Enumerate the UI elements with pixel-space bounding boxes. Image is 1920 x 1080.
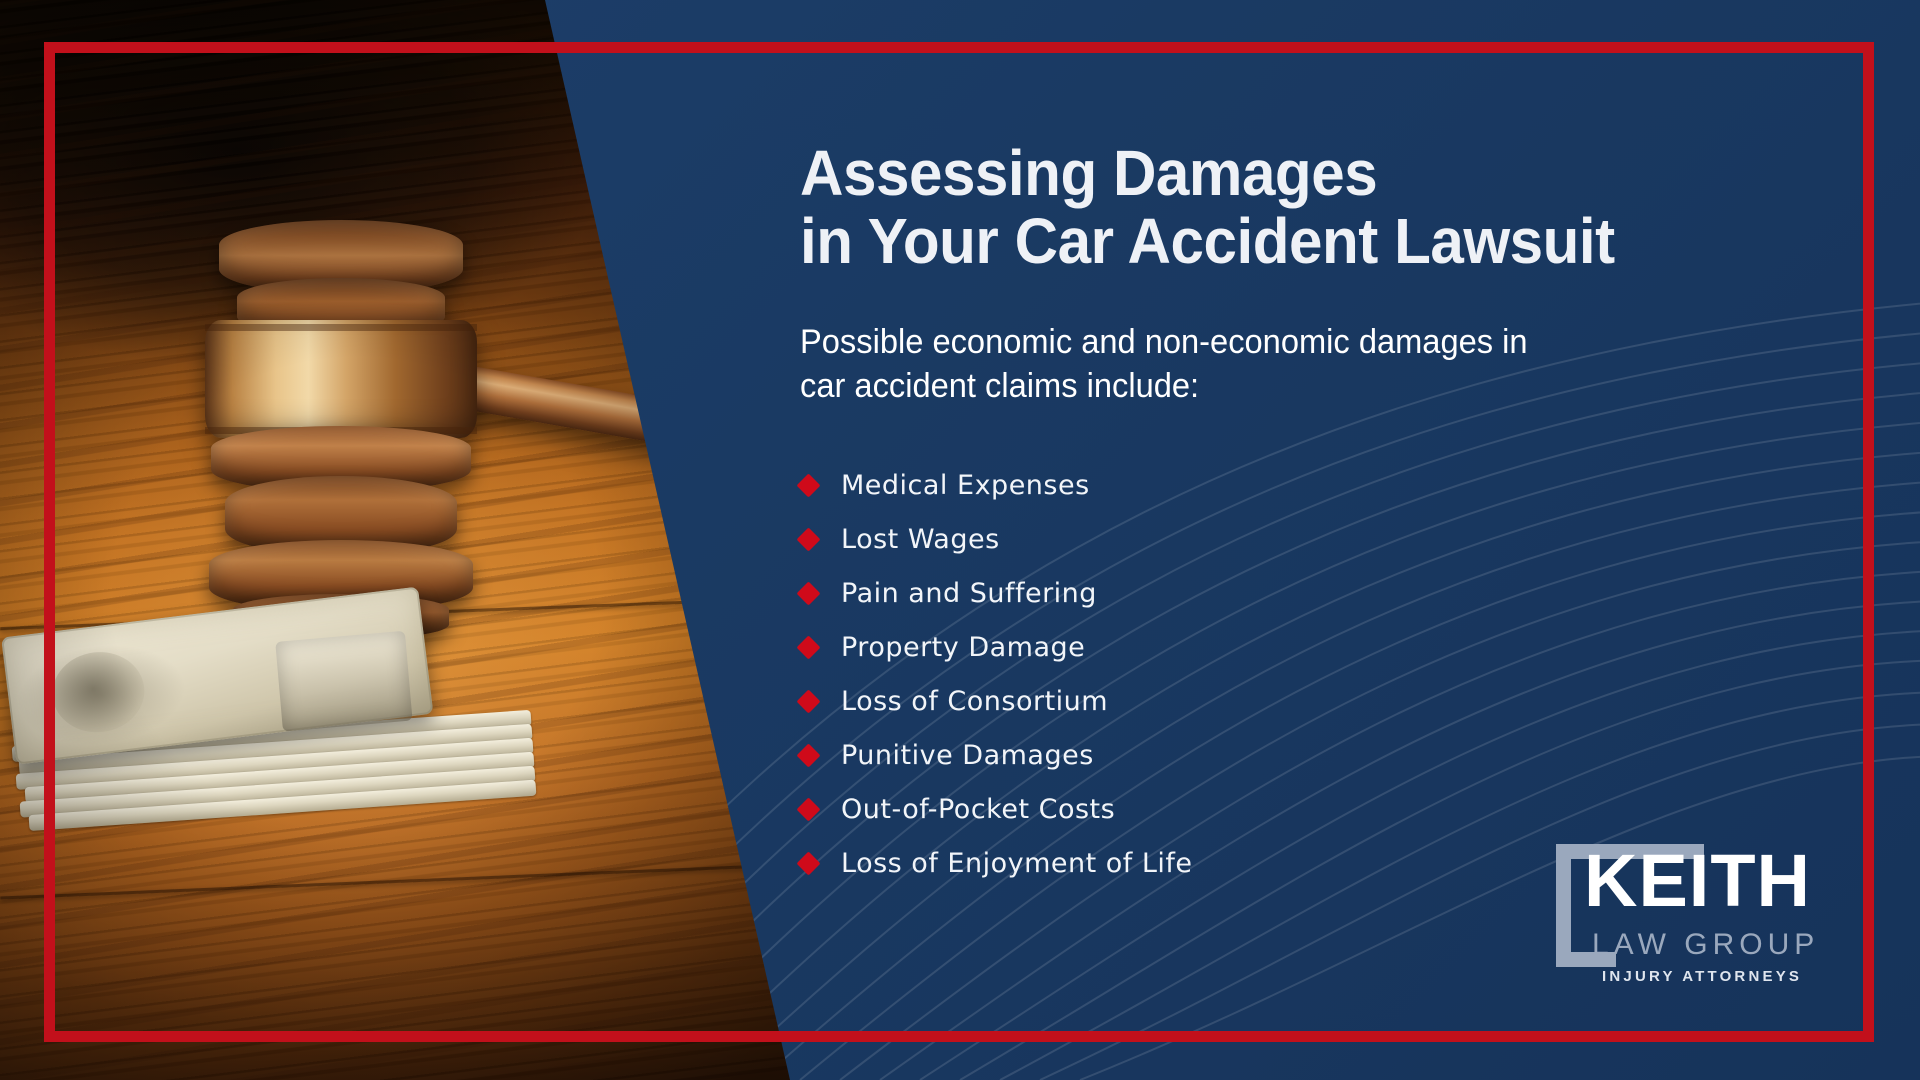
damages-list: Medical Expenses Lost Wages Pain and Suf…: [800, 458, 1860, 890]
logo-group-label: LAW GROUP: [1592, 928, 1819, 962]
list-item: Loss of Consortium: [800, 674, 1860, 728]
page-title: Assessing Damages in Your Car Accident L…: [800, 140, 1796, 276]
red-diamond-icon: [796, 581, 820, 605]
red-diamond-icon: [796, 473, 820, 497]
list-item-label: Loss of Enjoyment of Life: [841, 848, 1193, 879]
red-diamond-icon: [796, 527, 820, 551]
list-item-label: Pain and Suffering: [841, 578, 1097, 609]
red-diamond-icon: [796, 635, 820, 659]
list-item-label: Out-of-Pocket Costs: [841, 794, 1115, 825]
list-item: Punitive Damages: [800, 728, 1860, 782]
text-content-block: Assessing Damages in Your Car Accident L…: [800, 140, 1860, 890]
list-item-label: Loss of Consortium: [841, 686, 1108, 717]
red-diamond-icon: [796, 743, 820, 767]
subtitle-line-2: car accident claims include:: [800, 364, 1818, 408]
list-item: Lost Wages: [800, 512, 1860, 566]
red-diamond-icon: [796, 689, 820, 713]
list-item-label: Lost Wages: [841, 524, 1000, 555]
infographic-canvas: Assessing Damages in Your Car Accident L…: [0, 0, 1920, 1080]
subtitle: Possible economic and non-economic damag…: [800, 320, 1818, 408]
list-item: Property Damage: [800, 620, 1860, 674]
logo-tagline: INJURY ATTORNEYS: [1602, 968, 1802, 985]
logo-wordmark: KEITH: [1584, 844, 1811, 918]
red-diamond-icon: [796, 851, 820, 875]
list-item-label: Punitive Damages: [841, 740, 1094, 771]
headline-line-1: Assessing Damages: [800, 140, 1796, 208]
list-item-label: Medical Expenses: [841, 470, 1090, 501]
headline-line-2: in Your Car Accident Lawsuit: [800, 208, 1796, 276]
list-item: Pain and Suffering: [800, 566, 1860, 620]
list-item-label: Property Damage: [841, 632, 1085, 663]
list-item: Out-of-Pocket Costs: [800, 782, 1860, 836]
subtitle-line-1: Possible economic and non-economic damag…: [800, 320, 1818, 364]
red-diamond-icon: [796, 797, 820, 821]
keith-law-group-logo: KEITH LAW GROUP INJURY ATTORNEYS: [1556, 840, 1826, 990]
list-item: Medical Expenses: [800, 458, 1860, 512]
